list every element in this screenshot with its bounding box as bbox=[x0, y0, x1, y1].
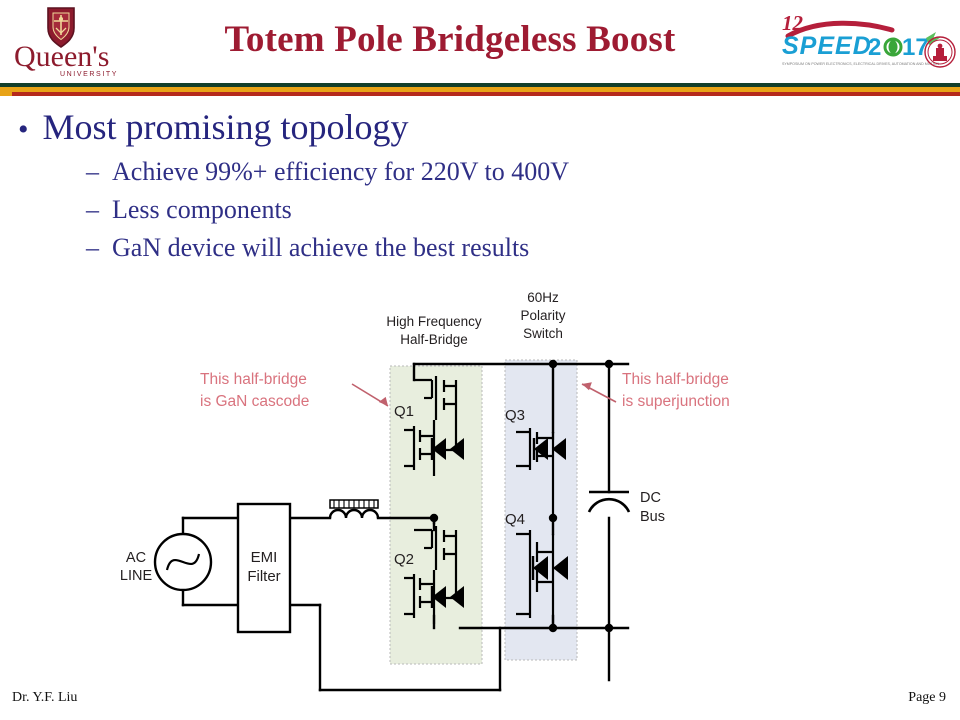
queens-wordmark: Queen's bbox=[14, 40, 109, 73]
slide-header: Queen's UNIVERSITY Totem Pole Bridgeless… bbox=[0, 0, 960, 92]
dc-bus-capacitor: DC Bus bbox=[589, 490, 665, 525]
junction-dot bbox=[605, 624, 613, 632]
ac-source: AC LINE bbox=[120, 534, 211, 590]
emi-filter-label-line1: EMI bbox=[251, 549, 278, 566]
label-high-frequency-half-bridge: High Frequency Half-Bridge bbox=[386, 314, 482, 347]
bullet-dash-marker: – bbox=[86, 153, 99, 191]
bullet-dash-marker: – bbox=[86, 191, 99, 229]
region-polarity-switch bbox=[505, 360, 577, 660]
bullet-level2-item: – Achieve 99%+ efficiency for 220V to 40… bbox=[86, 153, 738, 191]
ps-label-line3: Switch bbox=[523, 326, 563, 341]
circuit-diagram: High Frequency Half-Bridge 60Hz Polarity… bbox=[0, 280, 960, 700]
queens-university-logo: Queen's UNIVERSITY bbox=[10, 4, 145, 84]
speed-logo-wordmark: SPEED bbox=[782, 32, 872, 60]
superjunction-note-line1: This half-bridge bbox=[622, 371, 729, 388]
ps-label-line1: 60Hz bbox=[527, 290, 559, 305]
ps-label-line2: Polarity bbox=[520, 308, 565, 323]
page-title: Totem Pole Bridgeless Boost bbox=[150, 18, 750, 61]
divider-left-tip bbox=[0, 87, 12, 96]
junction-dot bbox=[549, 360, 557, 368]
junction-dot bbox=[605, 360, 613, 368]
bullet-level2-item: – Less components bbox=[86, 191, 738, 229]
footer-author: Dr. Y.F. Liu bbox=[12, 690, 77, 706]
bullet-level1: • Most promising topology bbox=[18, 104, 738, 153]
bullet-level2-item: – GaN device will achieve the best resul… bbox=[86, 229, 738, 267]
annotation-superjunction: This half-bridge is superjunction bbox=[582, 371, 730, 410]
bullet-level2-text: GaN device will achieve the best results bbox=[112, 229, 529, 267]
annotation-gan-cascode: This half-bridge is GaN cascode bbox=[200, 371, 390, 410]
bullet-dash-marker: – bbox=[86, 229, 99, 267]
hf-label-line2: Half-Bridge bbox=[400, 332, 468, 347]
speed-logo-seal bbox=[925, 37, 955, 67]
emi-filter-label-line2: Filter bbox=[247, 568, 280, 585]
header-divider bbox=[0, 83, 960, 96]
footer-page-number: Page 9 bbox=[908, 690, 946, 706]
speed-logo-year: 2 bbox=[868, 34, 881, 61]
bullet-level1-text: Most promising topology bbox=[43, 104, 409, 150]
dc-bus-label-line1: DC bbox=[640, 490, 661, 506]
emi-filter: EMI Filter bbox=[238, 504, 290, 632]
queens-subtext: UNIVERSITY bbox=[60, 71, 118, 78]
ac-source-label-line1: AC bbox=[126, 550, 146, 566]
bullet-marker: • bbox=[18, 107, 29, 153]
gan-cascode-note-line2: is GaN cascode bbox=[200, 393, 309, 410]
transistor-q3-label: Q3 bbox=[505, 407, 525, 424]
superjunction-note-line2: is superjunction bbox=[622, 393, 730, 410]
bullet-level2-text: Achieve 99%+ efficiency for 220V to 400V bbox=[112, 153, 569, 191]
transistor-q2-label: Q2 bbox=[394, 551, 414, 568]
dc-bus-label-line2: Bus bbox=[640, 509, 665, 525]
hf-label-line1: High Frequency bbox=[386, 314, 482, 329]
gan-cascode-note-line1: This half-bridge bbox=[200, 371, 307, 388]
speed-logo-tagline: SYMPOSIUM ON POWER ELECTRONICS, ELECTRIC… bbox=[782, 62, 939, 66]
svg-text:17: 17 bbox=[902, 34, 929, 61]
ac-source-label-line2: LINE bbox=[120, 568, 153, 584]
transistor-q4-label: Q4 bbox=[505, 511, 525, 528]
bullet-level2-text: Less components bbox=[112, 191, 292, 229]
divider-stripe-red bbox=[0, 92, 960, 96]
boost-inductor bbox=[330, 500, 378, 518]
transistor-q1-label: Q1 bbox=[394, 403, 414, 420]
speed-2017-logo: 12 SPEED 2 17 SYMPOSIUM ON POWER ELECTRO… bbox=[768, 8, 958, 78]
junction-dot bbox=[430, 514, 438, 522]
label-polarity-switch: 60Hz Polarity Switch bbox=[520, 290, 565, 341]
bullet-list: • Most promising topology – Achieve 99%+… bbox=[18, 104, 738, 267]
